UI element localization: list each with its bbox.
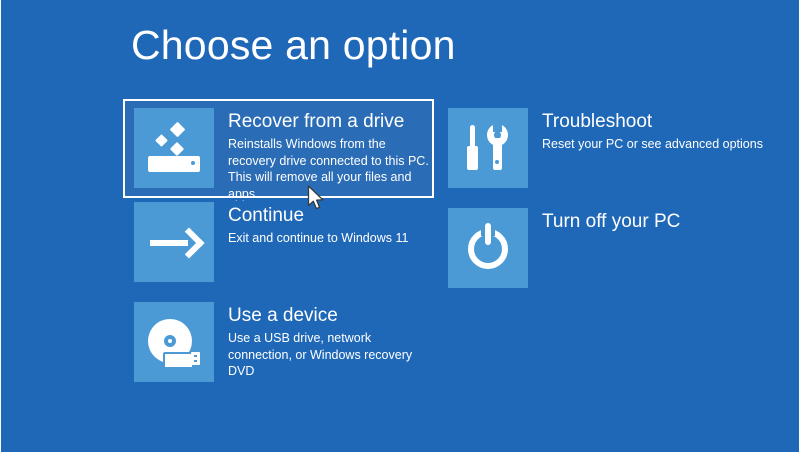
option-description: Reset your PC or see advanced options bbox=[542, 136, 748, 153]
option-troubleshoot[interactable]: Troubleshoot Reset your PC or see advanc… bbox=[448, 108, 748, 194]
screwdriver-wrench-icon bbox=[448, 108, 528, 188]
option-turn-off-your-pc[interactable]: Turn off your PC bbox=[448, 208, 748, 294]
options-column-right: Troubleshoot Reset your PC or see advanc… bbox=[448, 108, 748, 308]
option-recover-from-a-drive[interactable]: Recover from a drive Reinstalls Windows … bbox=[123, 99, 434, 198]
option-title: Troubleshoot bbox=[542, 110, 748, 134]
option-description: Exit and continue to Windows 11 bbox=[228, 230, 408, 247]
option-text: Turn off your PC bbox=[542, 208, 680, 236]
drive-sparkle-icon bbox=[134, 108, 214, 188]
option-title: Use a device bbox=[228, 304, 434, 328]
disc-usb-icon bbox=[134, 302, 214, 382]
option-description: Reinstalls Windows from the recovery dri… bbox=[228, 136, 432, 202]
option-text: Use a device Use a USB drive, network co… bbox=[228, 302, 434, 380]
page-title: Choose an option bbox=[131, 22, 456, 69]
power-icon bbox=[448, 208, 528, 288]
option-text: Troubleshoot Reset your PC or see advanc… bbox=[542, 108, 748, 153]
option-title: Turn off your PC bbox=[542, 210, 680, 234]
option-use-a-device[interactable]: Use a device Use a USB drive, network co… bbox=[134, 302, 434, 388]
arrow-right-icon bbox=[134, 202, 214, 282]
mouse-pointer-icon bbox=[307, 185, 325, 211]
option-description: Use a USB drive, network connection, or … bbox=[228, 330, 434, 380]
option-continue[interactable]: Continue Exit and continue to Windows 11 bbox=[134, 202, 434, 288]
option-text: Recover from a drive Reinstalls Windows … bbox=[228, 108, 432, 202]
option-title: Recover from a drive bbox=[228, 110, 432, 134]
options-column-left: Recover from a drive Reinstalls Windows … bbox=[134, 108, 434, 402]
choose-an-option-screen: Choose an option Recover from a drive Re… bbox=[1, 0, 799, 452]
